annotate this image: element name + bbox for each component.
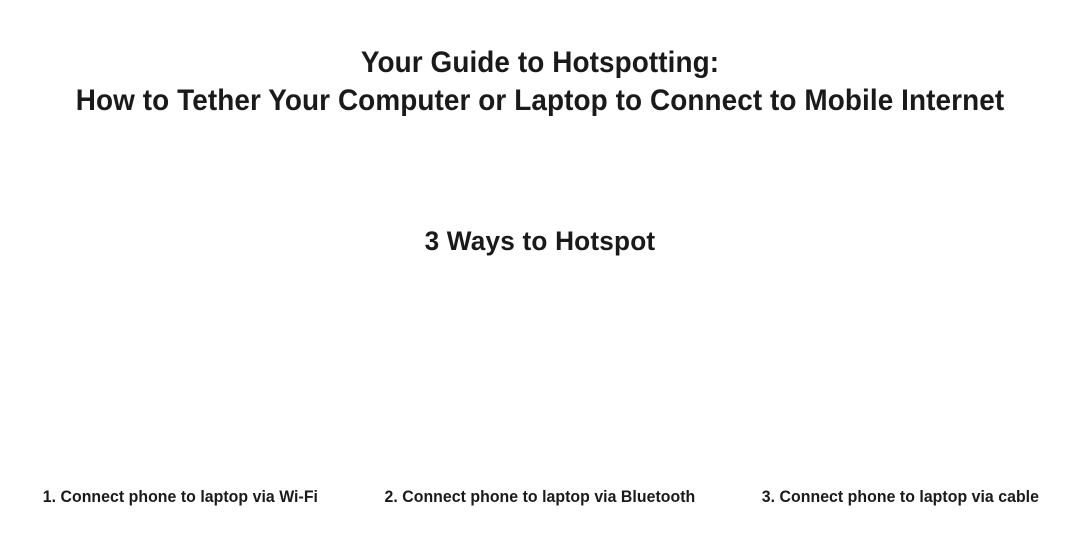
illustration-slot-cable (720, 272, 1080, 478)
section-heading: 3 Ways to Hotspot (0, 224, 1080, 258)
step-caption-3-text: 3. Connect phone to laptop via cable (761, 486, 1038, 508)
page-title: Your Guide to Hotspotting: How to Tether… (0, 44, 1080, 120)
step-caption-1: 1. Connect phone to laptop via Wi-Fi (0, 486, 360, 508)
title-line-1: Your Guide to Hotspotting: (38, 44, 1042, 82)
step-caption-3: 3. Connect phone to laptop via cable (720, 486, 1080, 508)
section-heading-text: 3 Ways to Hotspot (425, 224, 656, 258)
infographic-page: Your Guide to Hotspotting: How to Tether… (0, 0, 1080, 552)
step-captions: 1. Connect phone to laptop via Wi-Fi 2. … (0, 486, 1080, 508)
illustration-slot-bluetooth (360, 272, 720, 478)
step-caption-1-text: 1. Connect phone to laptop via Wi-Fi (42, 486, 317, 508)
title-line-2: How to Tether Your Computer or Laptop to… (38, 82, 1042, 120)
step-caption-2-text: 2. Connect phone to laptop via Bluetooth (385, 486, 696, 508)
illustration-band (0, 272, 1080, 478)
step-caption-2: 2. Connect phone to laptop via Bluetooth (360, 486, 720, 508)
illustration-slot-wifi (0, 272, 360, 478)
